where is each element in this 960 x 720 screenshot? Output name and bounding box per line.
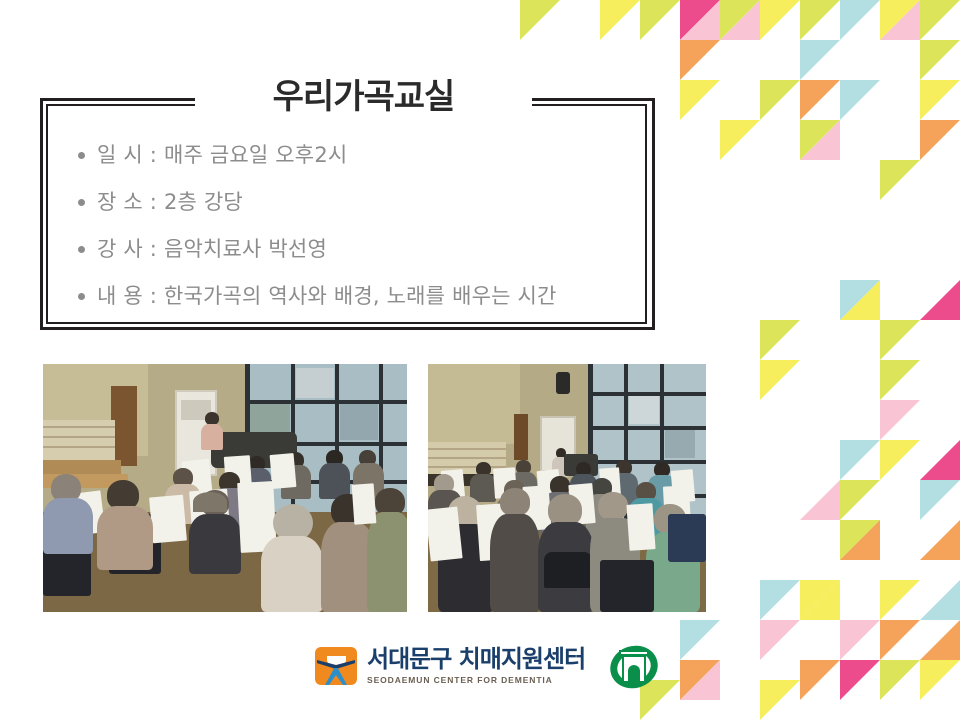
decor-triangle (760, 680, 800, 720)
list-item: 강 사 : 음악치료사 박선영 (78, 234, 638, 264)
bullet-dot-icon (78, 199, 85, 206)
frame-border-top-left (40, 98, 197, 101)
person-mark-icon (315, 647, 357, 685)
frame-border-left (40, 98, 43, 330)
decor-triangle (880, 0, 920, 40)
decor-triangle (760, 580, 800, 620)
info-bullet-list: 일 시 : 매주 금요일 오후2시 장 소 : 2층 강당 강 사 : 음악치료… (78, 140, 638, 328)
logo-subtitle: SEODAEMUN CENTER FOR DEMENTIA (367, 675, 602, 685)
decor-triangle (720, 0, 760, 40)
decor-triangle (600, 0, 640, 40)
decor-triangle (760, 360, 800, 400)
decor-triangle (880, 360, 920, 400)
decor-triangle (680, 660, 720, 700)
organization-logo: 서대문구 치매지원센터 SEODAEMUN CENTER FOR DEMENTI… (315, 643, 665, 691)
decor-triangle (680, 0, 720, 40)
list-item-label: 내 용 : 한국가곡의 역사와 배경, 노래를 배우는 시간 (97, 281, 557, 311)
decor-triangle (880, 160, 920, 200)
gate-arch-shape (628, 665, 640, 683)
decor-triangle (840, 620, 880, 660)
photo-choir-class-wide (43, 364, 407, 612)
decor-triangle (880, 660, 920, 700)
decor-triangle (760, 320, 800, 360)
decor-triangle (840, 520, 880, 560)
decor-triangle (800, 120, 840, 160)
decor-triangle (920, 660, 960, 700)
decor-triangle (520, 0, 560, 40)
decor-triangle (760, 620, 800, 660)
frame-border-right-inner (645, 104, 647, 324)
decor-triangle (800, 580, 840, 620)
decor-triangle (760, 80, 800, 120)
decor-triangle (680, 660, 720, 700)
decor-triangle (920, 40, 960, 80)
decor-triangle (680, 40, 720, 80)
decor-triangle (680, 80, 720, 120)
decor-triangle (720, 0, 760, 40)
decor-triangle (920, 120, 960, 160)
decor-triangle (800, 660, 840, 700)
decor-triangle (840, 520, 880, 560)
decor-triangle (920, 80, 960, 120)
decor-triangle (920, 520, 960, 560)
decor-triangle (800, 40, 840, 80)
logo-text-block: 서대문구 치매지원센터 SEODAEMUN CENTER FOR DEMENTI… (367, 645, 602, 685)
decor-triangle (920, 0, 960, 40)
frame-border-top-right (513, 98, 655, 101)
info-frame: 우리가곡교실 일 시 : 매주 금요일 오후2시 장 소 : 2층 강당 강 사… (40, 98, 655, 330)
decor-triangle (920, 580, 960, 620)
decor-triangle (680, 0, 720, 40)
list-item: 장 소 : 2층 강당 (78, 187, 638, 217)
slide-canvas: 우리가곡교실 일 시 : 매주 금요일 오후2시 장 소 : 2층 강당 강 사… (0, 0, 960, 720)
decor-triangle (640, 0, 680, 40)
decor-triangle (880, 400, 920, 440)
decor-triangle (880, 620, 920, 660)
bullet-dot-icon (78, 152, 85, 159)
decor-triangle (800, 80, 840, 120)
decor-triangle (720, 120, 760, 160)
list-item: 일 시 : 매주 금요일 오후2시 (78, 140, 638, 170)
frame-border-right (652, 98, 655, 330)
decor-triangle (840, 440, 880, 480)
decor-triangle (880, 320, 920, 360)
decor-triangle (840, 280, 880, 320)
decor-triangle (680, 620, 720, 660)
photo-choir-class-rear (428, 364, 706, 612)
decor-triangle (800, 120, 840, 160)
decor-triangle (760, 0, 800, 40)
decor-triangle (840, 280, 880, 320)
list-item-label: 강 사 : 음악치료사 박선영 (97, 234, 327, 264)
page-title: 우리가곡교실 (195, 76, 532, 118)
decor-triangle (840, 0, 880, 40)
list-item-label: 일 시 : 매주 금요일 오후2시 (97, 140, 347, 170)
frame-border-left-inner (46, 104, 48, 324)
decor-triangle (800, 0, 840, 40)
bullet-dot-icon (78, 293, 85, 300)
frame-border-top-left-inner (46, 104, 197, 106)
logo-title: 서대문구 치매지원센터 (367, 645, 602, 673)
decor-triangle (840, 660, 880, 700)
decor-triangle (800, 580, 840, 620)
decor-triangle (920, 620, 960, 660)
list-item-label: 장 소 : 2층 강당 (97, 187, 243, 217)
decor-triangle (920, 280, 960, 320)
decor-triangle (880, 440, 920, 480)
decor-triangle (840, 480, 880, 520)
decor-triangle (880, 580, 920, 620)
decor-triangle (920, 440, 960, 480)
decor-triangle (880, 0, 920, 40)
frame-border-top-right-inner (513, 104, 647, 106)
list-item: 내 용 : 한국가곡의 역사와 배경, 노래를 배우는 시간 (78, 281, 638, 311)
gate-landmark-icon (610, 643, 658, 689)
decor-triangle (800, 480, 840, 520)
decor-triangle (840, 80, 880, 120)
decor-triangle (920, 480, 960, 520)
person-legs-icon (325, 668, 347, 685)
bullet-dot-icon (78, 246, 85, 253)
